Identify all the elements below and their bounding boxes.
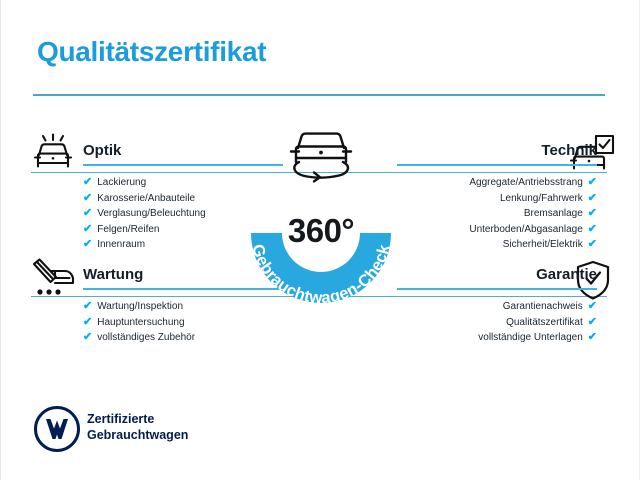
check-icon: ✔ (83, 224, 92, 235)
list-item: Aggregate/Antriebsstrang✔ (397, 175, 597, 191)
footer-line-1: Zertifizierte (87, 411, 188, 427)
list-item: ✔Hauptuntersuchung (83, 315, 283, 331)
footer-text: Zertifizierte Gebrauchtwagen (87, 411, 188, 443)
list-item: ✔vollständiges Zubehör (83, 330, 283, 346)
list-item-label: Aggregate/Antriebsstrang (469, 175, 582, 191)
list-item: Sicherheit/Elektrik✔ (397, 237, 597, 253)
list-item-label: Lenkung/Fahrwerk (500, 191, 583, 207)
list-item: Bremsanlage✔ (397, 206, 597, 222)
check-icon: ✔ (83, 332, 92, 343)
list-item: vollständige Unterlagen✔ (397, 330, 597, 346)
list-item-label: Garantienachweis (503, 299, 583, 315)
list-item: Garantienachweis✔ (397, 299, 597, 315)
car-sparkle-icon (31, 133, 75, 173)
list-item-label: Karosserie/Anbauteile (97, 191, 195, 207)
list-item-label: Sicherheit/Elektrik (503, 237, 583, 253)
pen-car-service-icon (29, 257, 73, 297)
check-icon: ✔ (588, 301, 597, 312)
check-icon: ✔ (588, 332, 597, 343)
badge-center-label: 360° (229, 212, 413, 250)
check-icon: ✔ (83, 239, 92, 250)
section-list-garantie: Garantienachweis✔ Qualitätszertifikat✔ v… (397, 299, 597, 346)
section-divider-technik (397, 164, 597, 166)
list-item-label: Bremsanlage (524, 206, 583, 222)
check-icon: ✔ (588, 177, 597, 188)
car-rotation-icon (291, 134, 351, 182)
footer-line-2: Gebrauchtwagen (87, 427, 188, 443)
list-item: Qualitätszertifikat✔ (397, 315, 597, 331)
check-icon: ✔ (588, 208, 597, 219)
check-icon: ✔ (588, 224, 597, 235)
list-item: Lenkung/Fahrwerk✔ (397, 191, 597, 207)
check-icon: ✔ (83, 208, 92, 219)
list-item-label: Innenraum (97, 237, 145, 253)
check-icon: ✔ (588, 239, 597, 250)
list-item-label: Hauptuntersuchung (97, 315, 184, 331)
section-heading-garantie: Garantie (397, 266, 597, 284)
check-icon: ✔ (83, 301, 92, 312)
list-item-label: Lackierung (97, 175, 146, 191)
vw-logo (34, 406, 80, 452)
section-heading-technik: Technik (397, 142, 597, 160)
list-item-label: Verglasung/Beleuchtung (97, 206, 205, 222)
list-item-label: Qualitätszertifikat (506, 315, 583, 331)
list-item-label: vollständige Unterlagen (478, 330, 583, 346)
check-icon: ✔ (83, 177, 92, 188)
certificate-page: Qualitätszertifikat (0, 0, 640, 480)
check-icon: ✔ (83, 193, 92, 204)
360-check-badge: Gebrauchtwagen-Check 360° (229, 120, 413, 310)
header-divider (33, 94, 605, 96)
list-item-label: Unterboden/Abgasanlage (469, 222, 582, 238)
list-item: Unterboden/Abgasanlage✔ (397, 222, 597, 238)
section-list-technik: Aggregate/Antriebsstrang✔ Lenkung/Fahrwe… (397, 175, 597, 253)
check-icon: ✔ (83, 317, 92, 328)
section-technik: Technik Aggregate/Antriebsstrang✔ Lenkun… (397, 142, 597, 253)
section-divider-garantie (397, 288, 597, 290)
list-item-label: Wartung/Inspektion (97, 299, 183, 315)
check-icon: ✔ (588, 317, 597, 328)
list-item-label: vollständiges Zubehör (97, 330, 195, 346)
section-garantie: Garantie Garantienachweis✔ Qualitätszert… (397, 266, 597, 346)
page-title: Qualitätszertifikat (37, 36, 266, 68)
list-item-label: Felgen/Reifen (97, 222, 159, 238)
check-icon: ✔ (588, 193, 597, 204)
